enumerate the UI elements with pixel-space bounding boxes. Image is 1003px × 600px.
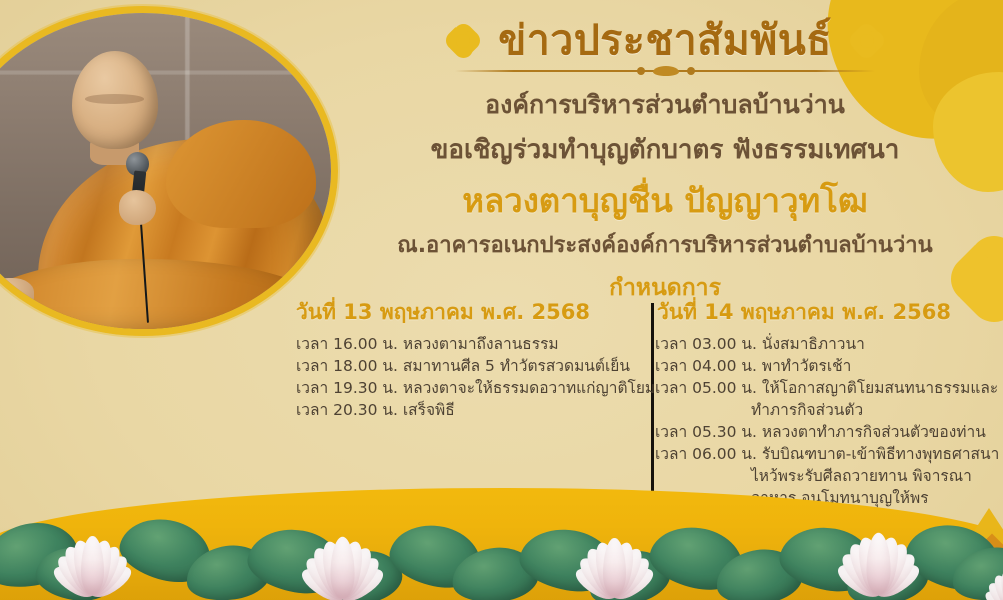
- schedule-item-continuation: ทำภารกิจส่วนตัว: [655, 399, 986, 421]
- organization-name: องค์การบริหารส่วนตำบลบ้านว่าน: [330, 89, 1000, 122]
- schedule-item-text: เวลา 20.30 น. เสร็จพิธี: [296, 401, 455, 419]
- invitation-text: ขอเชิญร่วมทำบุญตักบาตร ฟังธรรมเทศนา: [330, 134, 1000, 168]
- schedule-item: เวลา 03.00 น. นั่งสมาธิภาวนา: [655, 333, 986, 355]
- diamond-flower-ornament-left-icon: [446, 24, 480, 58]
- schedule-item-text: เวลา 16.00 น. หลวงตามาถึงลานธรรม: [296, 335, 559, 353]
- monk-resting-hand: [0, 278, 34, 310]
- monk-head: [72, 51, 158, 149]
- title-row: ข่าวประชาสัมพันธ์: [330, 18, 1000, 64]
- schedule-item-text: เวลา 05.30 น. หลวงตาทำภารกิจส่วนตัวของท่…: [655, 423, 986, 441]
- schedule-item-text: เวลา 05.00 น. ให้โอกาสญาติโยมสนทนาธรรมแล…: [655, 379, 998, 397]
- band-shading: [0, 472, 1003, 600]
- venue-text: ณ.อาคารอเนกประสงค์องค์การบริหารส่วนตำบลบ…: [330, 232, 1000, 261]
- monk-photo-frame: [0, 6, 338, 336]
- title-underline-ornament: [455, 65, 875, 77]
- schedule-day1-items: เวลา 16.00 น. หลวงตามาถึงลานธรรมเวลา 18.…: [296, 333, 641, 421]
- schedule-day1-heading: วันที่ 13 พฤษภาคม พ.ศ. 2568: [296, 300, 641, 325]
- monk-name: หลวงตาบุญชื่น ปัญญาวุทโฒ: [330, 180, 1000, 221]
- schedule-item: เวลา 05.30 น. หลวงตาทำภารกิจส่วนตัวของท่…: [655, 421, 986, 443]
- schedule-item: เวลา 05.00 น. ให้โอกาสญาติโยมสนทนาธรรมแล…: [655, 377, 986, 421]
- schedule-item-text: เวลา 03.00 น. นั่งสมาธิภาวนา: [655, 335, 865, 353]
- schedule-item: เวลา 19.30 น. หลวงตาจะให้ธรรมดอวาทแก่ญาต…: [296, 377, 641, 399]
- schedule-day2-heading: วันที่ 14 พฤษภาคม พ.ศ. 2568: [655, 300, 986, 325]
- schedule-item-text: เวลา 04.00 น. พาทำวัตรเช้า: [655, 357, 851, 375]
- diamond-flower-ornament-right-icon: [850, 24, 884, 58]
- schedule-item: เวลา 04.00 น. พาทำวัตรเช้า: [655, 355, 986, 377]
- schedule-item: เวลา 20.30 น. เสร็จพิธี: [296, 399, 641, 421]
- monk-hand-holding-microphone: [119, 190, 157, 225]
- schedule-item: เวลา 18.00 น. สมาทานศีล 5 ทำวัตรสวดมนต์เ…: [296, 355, 641, 377]
- schedule-item-text: เวลา 19.30 น. หลวงตาจะให้ธรรมดอวาทแก่ญาต…: [296, 379, 655, 397]
- schedule-column-day1: วันที่ 13 พฤษภาคม พ.ศ. 2568 เวลา 16.00 น…: [296, 300, 641, 421]
- schedule-item-text: เวลา 18.00 น. สมาทานศีล 5 ทำวัตรสวดมนต์เ…: [296, 357, 630, 375]
- monk-shoulder: [166, 120, 316, 227]
- schedule-item: เวลา 16.00 น. หลวงตามาถึงลานธรรม: [296, 333, 641, 355]
- monk-photo: [0, 13, 331, 329]
- announcement-poster: ข่าวประชาสัมพันธ์ องค์การบริหารส่วนตำบลบ…: [0, 0, 1003, 600]
- page-title: ข่าวประชาสัมพันธ์: [498, 18, 832, 64]
- schedule-item-text: เวลา 06.00 น. รับบิณฑบาต-เข้าพิธีทางพุทธ…: [655, 445, 999, 463]
- poster-header: ข่าวประชาสัมพันธ์ องค์การบริหารส่วนตำบลบ…: [330, 18, 1000, 306]
